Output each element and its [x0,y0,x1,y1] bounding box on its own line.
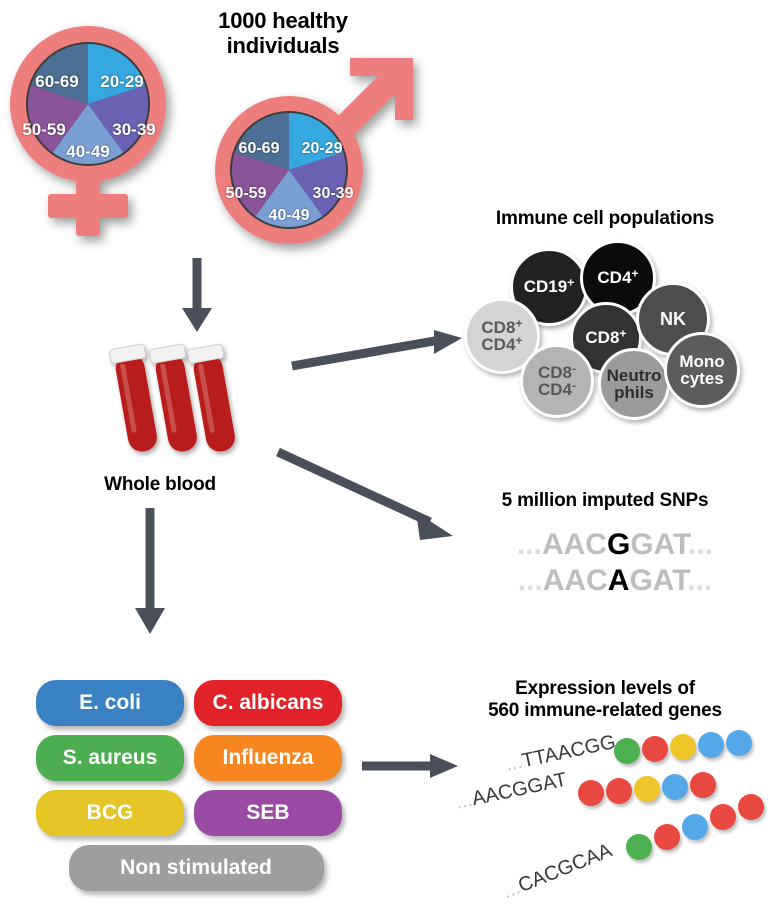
snp-sequence-block: ...AACGGAT... ...AACAGAT... [470,528,760,600]
stimulus-c-albicans[interactable]: C. albicans [194,680,342,726]
strand-top-bead [642,736,668,762]
snp-suffix: ... [687,564,712,597]
diagram-canvas: 1000 healthy individuals [0,0,771,922]
male-gender-symbol: 20-29 30-39 40-49 50-59 60-69 [198,54,428,254]
arrow-blood-to-stimuli [131,508,177,640]
stimuli-row: S. aureus Influenza [36,735,356,781]
strand-bottom-sequence: ...CACGCAA [500,840,616,905]
male-pie-label-30-39: 30-39 [313,185,354,203]
female-pie-label-20-29: 20-29 [100,72,143,92]
immune-cell-cluster: CD19+CD4+CD8+CD4+CD8+NKCD8-CD4-Neutrophi… [462,240,762,420]
arrow-blood-to-immune-cells [292,330,464,374]
immune-cell-label: CD8+CD4+ [481,319,522,354]
female-pie-label-30-39: 30-39 [112,120,155,140]
stimulus-e-coli[interactable]: E. coli [36,680,184,726]
arrow-cohort-to-blood [178,258,224,338]
strand-middle-bead [606,778,632,804]
strand-bottom-bead [738,794,764,820]
immune-cell-label: NK [660,310,686,328]
stimulus-s-aureus[interactable]: S. aureus [36,735,184,781]
immune-cell-label: Monocytes [679,353,724,388]
stimulus-seb[interactable]: SEB [194,790,342,836]
strand-top-bead [614,738,640,764]
male-pie-label-50-59: 50-59 [226,185,267,203]
strand-top-bead [698,732,724,758]
male-pie-label-20-29: 20-29 [302,140,343,158]
immune-populations-title: Immune cell populations [450,208,760,230]
stimuli-grid: E. coli C. albicans S. aureus Influenza … [36,680,356,900]
male-pie-label-60-69: 60-69 [239,140,280,158]
strand-middle-bead [662,774,688,800]
immune-cell-monocytes: Monocytes [664,332,740,408]
strand-bottom-bead [654,824,680,850]
strand-bottom-bead [682,814,708,840]
arrow-blood-to-snps [278,452,460,542]
expression-title: Expression levels of 560 immune-related … [450,678,760,722]
snp-after: GAT [630,528,688,561]
female-pie-label-40-49: 40-49 [66,142,109,162]
stimulus-bcg[interactable]: BCG [36,790,184,836]
immune-cell-label: CD19+ [524,278,575,295]
blood-collection-tubes [108,340,244,468]
snp-before: AAC [542,528,607,561]
strand-bottom-bead [710,804,736,830]
snp-sequence-row: ...AACAGAT... [470,564,760,598]
snp-variant: A [608,564,630,597]
immune-cell-label: CD8-CD4- [538,364,576,399]
stimuli-row: BCG SEB [36,790,356,836]
immune-cell-label: Neutrophils [607,367,662,402]
expression-strands: ...TTAACGG...AACGGAT...CACGCAA [450,730,771,922]
expression-title-line-2: 560 immune-related genes [450,700,760,722]
snp-suffix: ... [688,528,713,561]
female-gender-symbol: 20-29 30-39 40-49 50-59 60-69 [4,14,214,246]
immune-cell-label: CD4+ [597,269,638,286]
snp-sequence-row: ...AACGGAT... [470,528,760,562]
arrow-stimuli-to-expression [362,748,460,784]
stimuli-row: Non stimulated [36,845,356,891]
immune-cell-neutrophils: Neutrophils [598,348,670,420]
snp-title: 5 million imputed SNPs [450,490,760,512]
strand-top-bead [670,734,696,760]
snp-prefix: ... [517,528,542,561]
whole-blood-label: Whole blood [70,474,250,496]
strand-top-bead [726,730,752,756]
snp-before: AAC [543,564,608,597]
snp-after: GAT [629,564,687,597]
male-pie-label-40-49: 40-49 [269,207,310,225]
strand-middle-bead [634,776,660,802]
snp-variant: G [607,528,630,561]
stimulus-non-stimulated[interactable]: Non stimulated [69,845,324,891]
immune-cell-cd8negcd4neg: CD8-CD4- [520,344,594,418]
strand-bottom-bead [626,834,652,860]
expression-title-line-1: Expression levels of [450,678,760,700]
strand-middle-bead [690,772,716,798]
strand-middle-bead [578,780,604,806]
snp-prefix: ... [518,564,543,597]
stimuli-row: E. coli C. albicans [36,680,356,726]
immune-cell-label: CD8+ [585,329,626,346]
female-pie-label-60-69: 60-69 [35,72,78,92]
stimulus-influenza[interactable]: Influenza [194,735,342,781]
female-pie-label-50-59: 50-59 [22,120,65,140]
